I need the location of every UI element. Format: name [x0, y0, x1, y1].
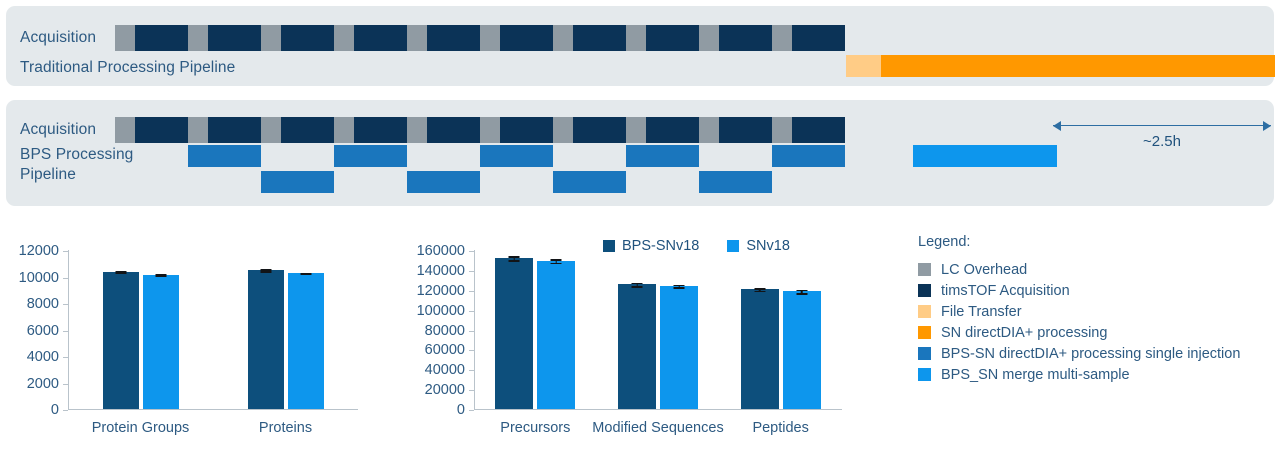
timstof-acquisition-block — [354, 25, 407, 51]
timstof-acquisition-block — [354, 117, 407, 143]
chart-protein-counts: 020004000600080001000012000Protein Group… — [0, 238, 372, 450]
timstof-acquisition-block — [500, 25, 553, 51]
lc-overhead-block — [626, 117, 646, 143]
timstof-acquisition-block — [646, 117, 699, 143]
timstof-acquisition-block — [427, 117, 480, 143]
timstof-acquisition-block — [646, 25, 699, 51]
sn-processing-block — [881, 55, 1275, 77]
lc-overhead-block — [553, 25, 573, 51]
legend-item: SN directDIA+ processing — [918, 322, 1268, 343]
arrow-head-left-icon — [1053, 121, 1061, 131]
timstof-acquisition-block — [427, 25, 480, 51]
error-bar-cap-bottom — [674, 287, 685, 289]
chart-inline-legend: BPS-SNv18SNv18 — [603, 238, 790, 254]
error-bar-cap-bottom — [796, 293, 807, 295]
legend-block: Legend: LC OverheadtimsTOF AcquisitionFi… — [918, 234, 1268, 385]
lc-overhead-block — [188, 117, 208, 143]
error-bar — [509, 256, 520, 262]
timstof-acquisition-block — [135, 25, 188, 51]
x-axis-tick-label: Proteins — [259, 420, 312, 436]
y-axis-tick — [469, 350, 474, 351]
bps-single-injection-block — [626, 145, 699, 167]
chart-plot-area: 020004000600080001000012000Protein Group… — [68, 250, 358, 410]
error-bar-cap-top — [796, 290, 807, 292]
y-axis-tick-label: 100000 — [417, 303, 465, 319]
y-axis-tick-label: 60000 — [425, 342, 465, 358]
bps-acquisition-track — [115, 117, 955, 143]
legend-color-swatch — [918, 368, 931, 381]
error-bar-cap-top — [754, 288, 765, 290]
y-axis-tick — [469, 311, 474, 312]
timstof-acquisition-block — [719, 117, 772, 143]
timstof-acquisition-block — [500, 117, 553, 143]
error-bar-cap-bottom — [300, 274, 311, 276]
x-axis-tick-label: Peptides — [752, 420, 808, 436]
bar-snv18 — [143, 275, 179, 409]
lc-overhead-block — [480, 117, 500, 143]
row-label-acquisition-bps: Acquisition — [20, 120, 96, 140]
timstof-acquisition-block — [573, 117, 626, 143]
legend-item: File Transfer — [918, 301, 1268, 322]
legend-item-label: File Transfer — [941, 304, 1022, 320]
error-bar-cap-top — [632, 283, 643, 285]
traditional-acquisition-track — [115, 25, 955, 51]
y-axis-tick — [63, 278, 68, 279]
y-axis-tick-label: 160000 — [417, 243, 465, 259]
traditional-processing-track — [115, 55, 1275, 77]
row-label-acquisition-traditional: Acquisition — [20, 28, 96, 48]
legend-entry-label: BPS-SNv18 — [622, 238, 699, 254]
error-bar-cap-top — [551, 259, 562, 261]
lc-overhead-block — [407, 25, 427, 51]
lc-overhead-block — [553, 117, 573, 143]
chart-identification-counts: 0200004000060000800001000001200001400001… — [398, 238, 858, 450]
y-axis-tick-label: 120000 — [417, 283, 465, 299]
legend-item: timsTOF Acquisition — [918, 280, 1268, 301]
lc-overhead-block — [626, 25, 646, 51]
error-bar-cap-bottom — [509, 260, 520, 262]
bps-single-injection-block — [407, 171, 480, 193]
y-axis-tick — [469, 331, 474, 332]
error-bar-cap-top — [509, 256, 520, 258]
x-axis-tick-label: Modified Sequences — [592, 420, 723, 436]
timstof-acquisition-block — [281, 117, 334, 143]
lc-overhead-block — [261, 117, 281, 143]
lc-overhead-block — [772, 25, 792, 51]
bps-single-injection-block — [553, 171, 626, 193]
y-axis-tick — [63, 251, 68, 252]
y-axis-tick — [469, 291, 474, 292]
file-transfer-block — [846, 55, 881, 77]
error-bar-cap-bottom — [260, 271, 271, 273]
y-axis-tick-label: 80000 — [425, 323, 465, 339]
error-bar — [632, 283, 643, 289]
timstof-acquisition-block — [135, 117, 188, 143]
bps-single-injection-block — [699, 171, 772, 193]
error-bar — [754, 288, 765, 292]
y-axis-tick — [63, 331, 68, 332]
y-axis-tick — [469, 390, 474, 391]
bps-single-injection-block — [772, 145, 845, 167]
legend-item-label: SN directDIA+ processing — [941, 325, 1107, 341]
bar-snv18 — [660, 286, 698, 409]
legend-item: BPS_SN merge multi-sample — [918, 364, 1268, 385]
duration-arrow: ~2.5h — [1053, 119, 1271, 133]
duration-label: ~2.5h — [1053, 133, 1271, 150]
y-axis-tick — [469, 370, 474, 371]
lc-overhead-block — [188, 25, 208, 51]
legend-color-swatch — [918, 284, 931, 297]
error-bar — [674, 285, 685, 289]
legend-swatch — [727, 240, 739, 252]
legend-entry-bps-snv18: BPS-SNv18 — [603, 238, 699, 254]
legend-color-swatch — [918, 347, 931, 360]
arrow-head-right-icon — [1263, 121, 1271, 131]
traditional-pipeline-panel: Acquisition Traditional Processing Pipel… — [6, 6, 1274, 86]
y-axis-tick — [63, 357, 68, 358]
y-axis-tick-label: 10000 — [19, 270, 59, 286]
y-axis-line — [68, 250, 69, 410]
y-axis-tick — [63, 410, 68, 411]
legend-title: Legend: — [918, 234, 1268, 250]
lc-overhead-block — [407, 117, 427, 143]
timstof-acquisition-block — [792, 25, 845, 51]
bar-snv18 — [783, 291, 821, 409]
x-axis-tick-label: Protein Groups — [92, 420, 190, 436]
x-axis-tick-label: Precursors — [500, 420, 570, 436]
bps-pipeline-panel: Acquisition BPS Processing Pipeline ~2.5… — [6, 100, 1274, 206]
y-axis-tick-label: 4000 — [27, 349, 59, 365]
error-bar-cap-bottom — [754, 291, 765, 293]
error-bar — [796, 290, 807, 295]
error-bar — [115, 271, 126, 274]
timstof-acquisition-block — [208, 117, 261, 143]
lc-overhead-block — [480, 25, 500, 51]
error-bar-cap-bottom — [155, 276, 166, 278]
bps-single-injection-block — [261, 171, 334, 193]
legend-item-label: LC Overhead — [941, 262, 1027, 278]
legend-item: BPS-SN directDIA+ processing single inje… — [918, 343, 1268, 364]
y-axis-tick-label: 8000 — [27, 296, 59, 312]
bar-snv18 — [537, 261, 575, 409]
bps-single-injection-block — [480, 145, 553, 167]
lc-overhead-block — [115, 117, 135, 143]
bar-bps-snv18 — [495, 258, 533, 409]
legend-item-label: timsTOF Acquisition — [941, 283, 1070, 299]
x-axis-line — [474, 409, 842, 410]
legend-color-swatch — [918, 326, 931, 339]
bps-merge-block — [913, 145, 1057, 167]
lc-overhead-block — [115, 25, 135, 51]
bar-bps-snv18 — [103, 272, 139, 409]
lc-overhead-block — [699, 25, 719, 51]
arrow-line — [1053, 125, 1271, 126]
error-bar — [260, 269, 271, 272]
chart-plot-area: 0200004000060000800001000001200001400001… — [474, 250, 842, 410]
y-axis-tick-label: 12000 — [19, 243, 59, 259]
x-axis-line — [68, 409, 358, 410]
legend-color-swatch — [918, 263, 931, 276]
timstof-acquisition-block — [719, 25, 772, 51]
error-bar — [551, 259, 562, 264]
y-axis-line — [474, 250, 475, 410]
y-axis-tick-label: 20000 — [425, 382, 465, 398]
legend-entry-label: SNv18 — [746, 238, 790, 254]
y-axis-tick — [469, 410, 474, 411]
y-axis-tick — [469, 271, 474, 272]
y-axis-tick-label: 0 — [51, 402, 59, 418]
bar-snv18 — [288, 273, 324, 409]
legend-item: LC Overhead — [918, 259, 1268, 280]
error-bar — [300, 273, 311, 276]
legend-entry-snv18: SNv18 — [727, 238, 790, 254]
error-bar-cap-top — [674, 285, 685, 287]
lc-overhead-block — [699, 117, 719, 143]
y-axis-tick-label: 140000 — [417, 263, 465, 279]
y-axis-tick-label: 6000 — [27, 323, 59, 339]
y-axis-tick-label: 2000 — [27, 376, 59, 392]
legend-item-label: BPS-SN directDIA+ processing single inje… — [941, 346, 1240, 362]
lc-overhead-block — [334, 25, 354, 51]
y-axis-tick — [63, 304, 68, 305]
bar-bps-snv18 — [248, 270, 284, 409]
error-bar-cap-bottom — [632, 286, 643, 288]
bar-bps-snv18 — [618, 284, 656, 409]
bps-single-injection-block — [188, 145, 261, 167]
bps-single-injection-block — [334, 145, 407, 167]
y-axis-tick — [469, 251, 474, 252]
lc-overhead-block — [334, 117, 354, 143]
timstof-acquisition-block — [792, 117, 845, 143]
y-axis-tick — [63, 384, 68, 385]
bar-bps-snv18 — [741, 289, 779, 409]
legend-swatch — [603, 240, 615, 252]
error-bar — [155, 274, 166, 277]
timstof-acquisition-block — [281, 25, 334, 51]
legend-item-label: BPS_SN merge multi-sample — [941, 367, 1130, 383]
y-axis-tick-label: 40000 — [425, 362, 465, 378]
y-axis-tick-label: 0 — [457, 402, 465, 418]
error-bar-cap-bottom — [551, 263, 562, 265]
legend-color-swatch — [918, 305, 931, 318]
lc-overhead-block — [261, 25, 281, 51]
legend-items: LC OverheadtimsTOF AcquisitionFile Trans… — [918, 259, 1268, 385]
timstof-acquisition-block — [208, 25, 261, 51]
lc-overhead-block — [772, 117, 792, 143]
bps-processing-track — [115, 145, 1275, 193]
timstof-acquisition-block — [573, 25, 626, 51]
error-bar-cap-bottom — [115, 273, 126, 275]
